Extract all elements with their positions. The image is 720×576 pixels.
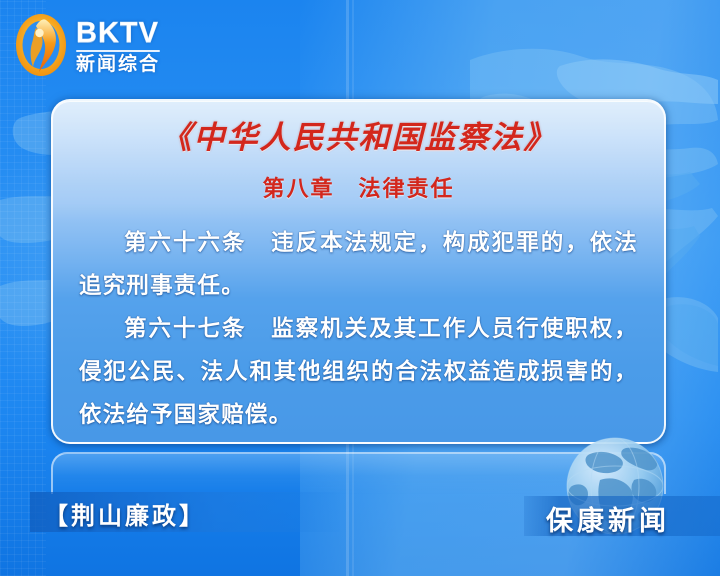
law-chapter-heading: 第八章 法律责任	[79, 171, 638, 203]
broadcast-frame: BKTV 新闻综合 《中华人民共和国监察法》 第八章 法律责任 第六十六条 违反…	[0, 0, 720, 576]
background-grid-texture	[0, 0, 46, 576]
station-logo-divider	[76, 50, 160, 52]
law-title: 《中华人民共和国监察法》	[79, 121, 638, 155]
station-channel-name: 新闻综合	[76, 55, 160, 74]
content-panel: 《中华人民共和国监察法》 第八章 法律责任 第六十六条 违反本法规定，构成犯罪的…	[51, 99, 666, 444]
flame-oval-logo-icon	[12, 12, 70, 78]
segment-tag-label: 【荆山廉政】	[44, 496, 206, 531]
station-callsign: BKTV	[76, 19, 159, 48]
station-logo: BKTV 新闻综合	[12, 8, 172, 82]
law-article-paragraph: 第六十七条 监察机关及其工作人员行使职权，侵犯公民、法人和其他组织的合法权益造成…	[79, 307, 638, 436]
program-name-label: 保康新闻	[546, 499, 670, 538]
law-article-paragraph: 第六十六条 违反本法规定，构成犯罪的，依法追究刑事责任。	[79, 221, 638, 307]
station-logo-text: BKTV 新闻综合	[76, 17, 160, 74]
law-body: 第六十六条 违反本法规定，构成犯罪的，依法追究刑事责任。 第六十七条 监察机关及…	[79, 221, 638, 436]
